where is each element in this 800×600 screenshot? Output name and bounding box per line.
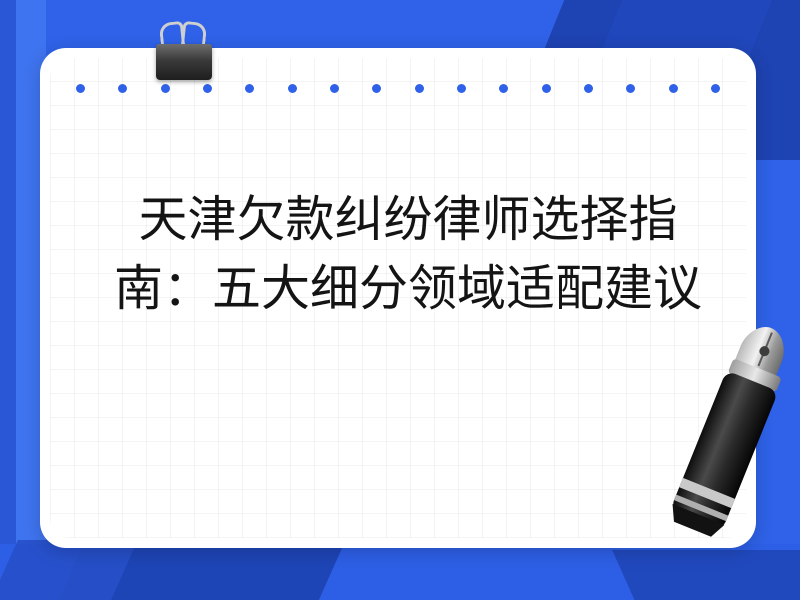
poster-canvas: 天津欠款纠纷律师选择指南：五大细分领域适配建议	[0, 0, 800, 600]
dot	[626, 84, 635, 93]
dot	[372, 84, 381, 93]
dot	[76, 84, 85, 93]
title-card: 天津欠款纠纷律师选择指南：五大细分领域适配建议	[40, 48, 756, 548]
dot	[118, 84, 127, 93]
dot	[669, 84, 678, 93]
binder-clip-icon	[148, 14, 220, 86]
dot	[457, 84, 466, 93]
dot	[542, 84, 551, 93]
dot	[415, 84, 424, 93]
binder-clip-body	[156, 44, 212, 80]
dot	[499, 84, 508, 93]
pen-nib-slit	[758, 333, 771, 366]
dot	[245, 84, 254, 93]
dot	[288, 84, 297, 93]
page-title: 天津欠款纠纷律师选择指南：五大细分领域适配建议	[96, 186, 720, 324]
pen-nib-breather-hole	[758, 345, 771, 358]
page-title-container: 天津欠款纠纷律师选择指南：五大细分领域适配建议	[96, 186, 720, 324]
background-left-stripe	[0, 0, 16, 600]
title-card-inner: 天津欠款纠纷律师选择指南：五大细分领域适配建议	[50, 58, 746, 538]
dot	[711, 84, 720, 93]
background-bottom-right-shape	[612, 550, 800, 600]
dot	[584, 84, 593, 93]
dot	[330, 84, 339, 93]
